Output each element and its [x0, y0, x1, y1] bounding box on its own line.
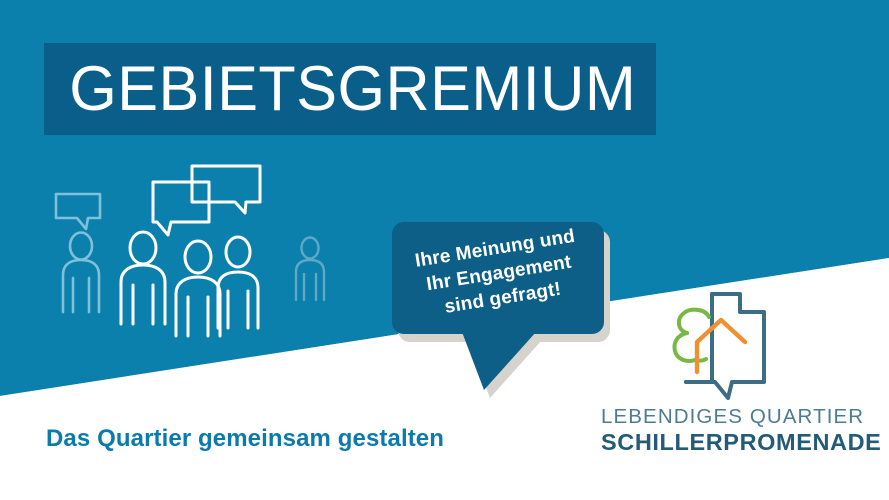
people-illustration	[40, 160, 360, 340]
logo: LEBENDIGES QUARTIER SCHILLERPROMENADE	[601, 288, 859, 458]
person-3	[176, 241, 220, 336]
logo-line-lebendiges-quartier: LEBENDIGES QUARTIER	[601, 406, 859, 429]
title-banner: GEBIETSGREMIUM	[44, 43, 656, 135]
tagline: Das Quartier gemeinsam gestalten	[46, 425, 444, 453]
speech-bubble-large	[192, 166, 260, 213]
page-title: GEBIETSGREMIUM	[44, 58, 636, 121]
callout-tail	[462, 332, 536, 390]
logo-line-schillerpromenade: SCHILLERPROMENADE	[601, 429, 859, 455]
poster-canvas: GEBIETSGREMIUM	[0, 0, 889, 500]
person-1	[63, 233, 99, 313]
person-5	[296, 238, 324, 301]
speech-bubble-medium	[153, 182, 209, 235]
callout-speech-bubble: Ihre Meinung und Ihr Engagement sind gef…	[392, 222, 614, 397]
person-4	[218, 237, 258, 328]
roof-icon	[697, 320, 745, 372]
speech-bubble-small	[56, 194, 100, 229]
logo-mark	[656, 288, 776, 400]
logo-wordmark: LEBENDIGES QUARTIER SCHILLERPROMENADE	[601, 406, 859, 455]
person-2	[121, 232, 165, 324]
